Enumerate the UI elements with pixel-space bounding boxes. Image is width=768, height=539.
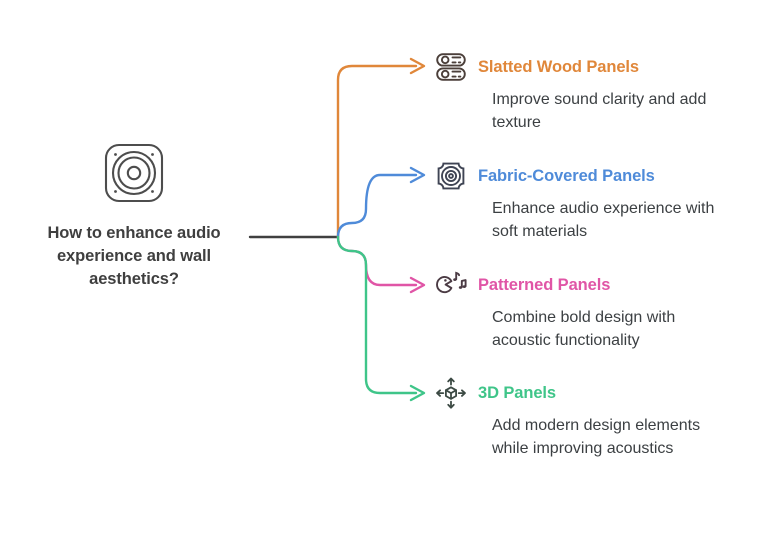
branch-patterned-panels[interactable]: Patterned Panels Combine bold design wit… [434,268,754,352]
branch-label: Patterned Panels [478,276,610,295]
page-title: How to enhance audio experience and wall… [18,222,250,290]
branch-header: Patterned Panels [434,268,754,302]
branch-label: 3D Panels [478,384,556,403]
branch-header: 3D Panels [434,376,754,410]
head-music-notes-icon [434,268,468,302]
branch-description: Combine bold design with acoustic functi… [492,307,737,352]
branch-label: Slatted Wood Panels [478,58,639,77]
connector-3d-panels [338,237,424,400]
connector-patterned-panels [338,237,424,292]
cube-arrows-icon [434,376,468,410]
connector-fabric-covered-panels [338,168,424,237]
branch-label: Fabric-Covered Panels [478,167,655,186]
branch-3d-panels[interactable]: 3D Panels Add modern design elements whi… [434,376,754,460]
connector-slatted-wood-panels [338,59,424,237]
branch-header: Slatted Wood Panels [434,50,754,84]
branch-header: Fabric-Covered Panels [434,159,754,193]
branch-slatted-wood-panels[interactable]: Slatted Wood Panels Improve sound clarit… [434,50,754,134]
wood-logs-icon [434,50,468,84]
branch-description: Improve sound clarity and add texture [492,89,737,134]
branch-fabric-covered-panels[interactable]: Fabric-Covered Panels Enhance audio expe… [434,159,754,243]
branch-description: Add modern design elements while improvi… [492,415,737,460]
mindmap-diagram: How to enhance audio experience and wall… [0,0,768,539]
speaker-cone-icon [434,159,468,193]
root-node: How to enhance audio experience and wall… [18,140,250,290]
branch-description: Enhance audio experience with soft mater… [492,198,737,243]
speaker-driver-icon [101,140,167,206]
